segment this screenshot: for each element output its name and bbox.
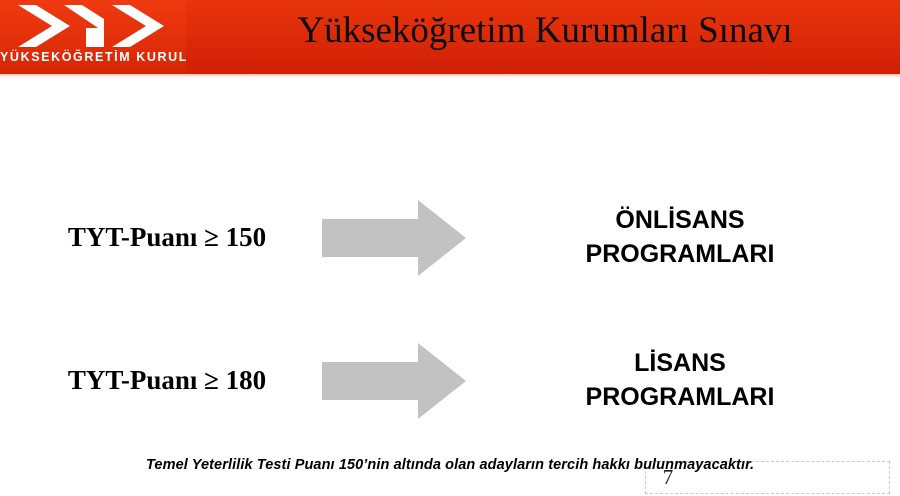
outcome-line-2: PROGRAMLARI <box>586 237 775 271</box>
logo-container: YÜKSEKÖĞRETİM KURULU <box>0 0 186 73</box>
flow-row: TYT-Puanı ≥ 180 LİSANS PROGRAMLARI <box>0 335 900 425</box>
slide: YÜKSEKÖĞRETİM KURULU Yükseköğretim Kurum… <box>0 0 900 496</box>
yok-chevron-logo-icon <box>12 4 180 48</box>
outcome-label: LİSANS PROGRAMLARI <box>470 335 890 425</box>
criterion-label: TYT-Puanı ≥ 150 <box>22 192 312 282</box>
outcome-line-2: PROGRAMLARI <box>586 380 775 414</box>
page-number: 7 <box>650 462 686 492</box>
header-underline <box>0 74 900 78</box>
flow-row: TYT-Puanı ≥ 150 ÖNLİSANS PROGRAMLARI <box>0 192 900 282</box>
page-title: Yükseköğretim Kurumları Sınavı <box>200 7 890 55</box>
right-arrow-icon <box>322 200 466 276</box>
outcome-line-1: LİSANS <box>634 346 726 380</box>
footnote-text: Temel Yeterlilik Testi Puanı 150’nin alt… <box>146 455 846 475</box>
outcome-line-1: ÖNLİSANS <box>615 203 744 237</box>
logo-wordmark: YÜKSEKÖĞRETİM KURULU <box>0 50 186 64</box>
criterion-label: TYT-Puanı ≥ 180 <box>22 335 312 425</box>
right-arrow-icon <box>322 343 466 419</box>
outcome-label: ÖNLİSANS PROGRAMLARI <box>470 192 890 282</box>
